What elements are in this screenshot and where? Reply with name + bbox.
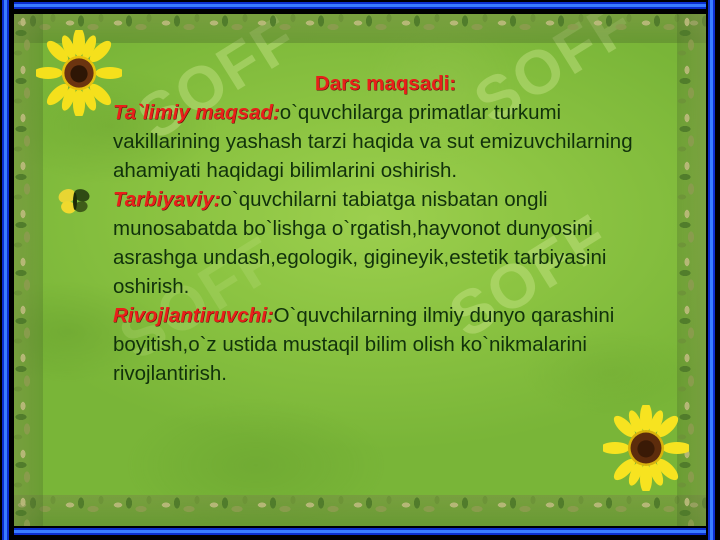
frame-border-bottom [0,526,720,540]
frame-border-right [706,0,720,540]
sunflower-icon [36,30,122,116]
objective-label: Ta`limiy maqsad: [113,101,280,124]
objective-item: Ta`limiy maqsad:o`quvchilarga primatlar … [113,98,658,185]
objective-item: Tarbiyaviy:o`quvchilarni tabiatga nisbat… [113,185,658,301]
frame-border-top [0,0,720,14]
objective-label: Rivojlantiruvchi: [113,304,274,327]
frame-border-left [0,0,14,540]
slide-canvas: SOFF SOFF SOFF SOFF [13,13,707,527]
vine-border-bottom-icon [13,495,707,527]
slide-text-block: Dars maqsadi: Ta`limiy maqsad:o`quvchila… [113,69,658,388]
sunflower-icon [603,405,689,491]
objective-item: Rivojlantiruvchi:O`quvchilarning ilmiy d… [113,301,658,388]
page-title: Dars maqsadi: [113,69,658,98]
presentation-slide: SOFF SOFF SOFF SOFF [0,0,720,540]
butterfly-icon [55,185,95,219]
objective-label: Tarbiyaviy: [113,188,221,211]
